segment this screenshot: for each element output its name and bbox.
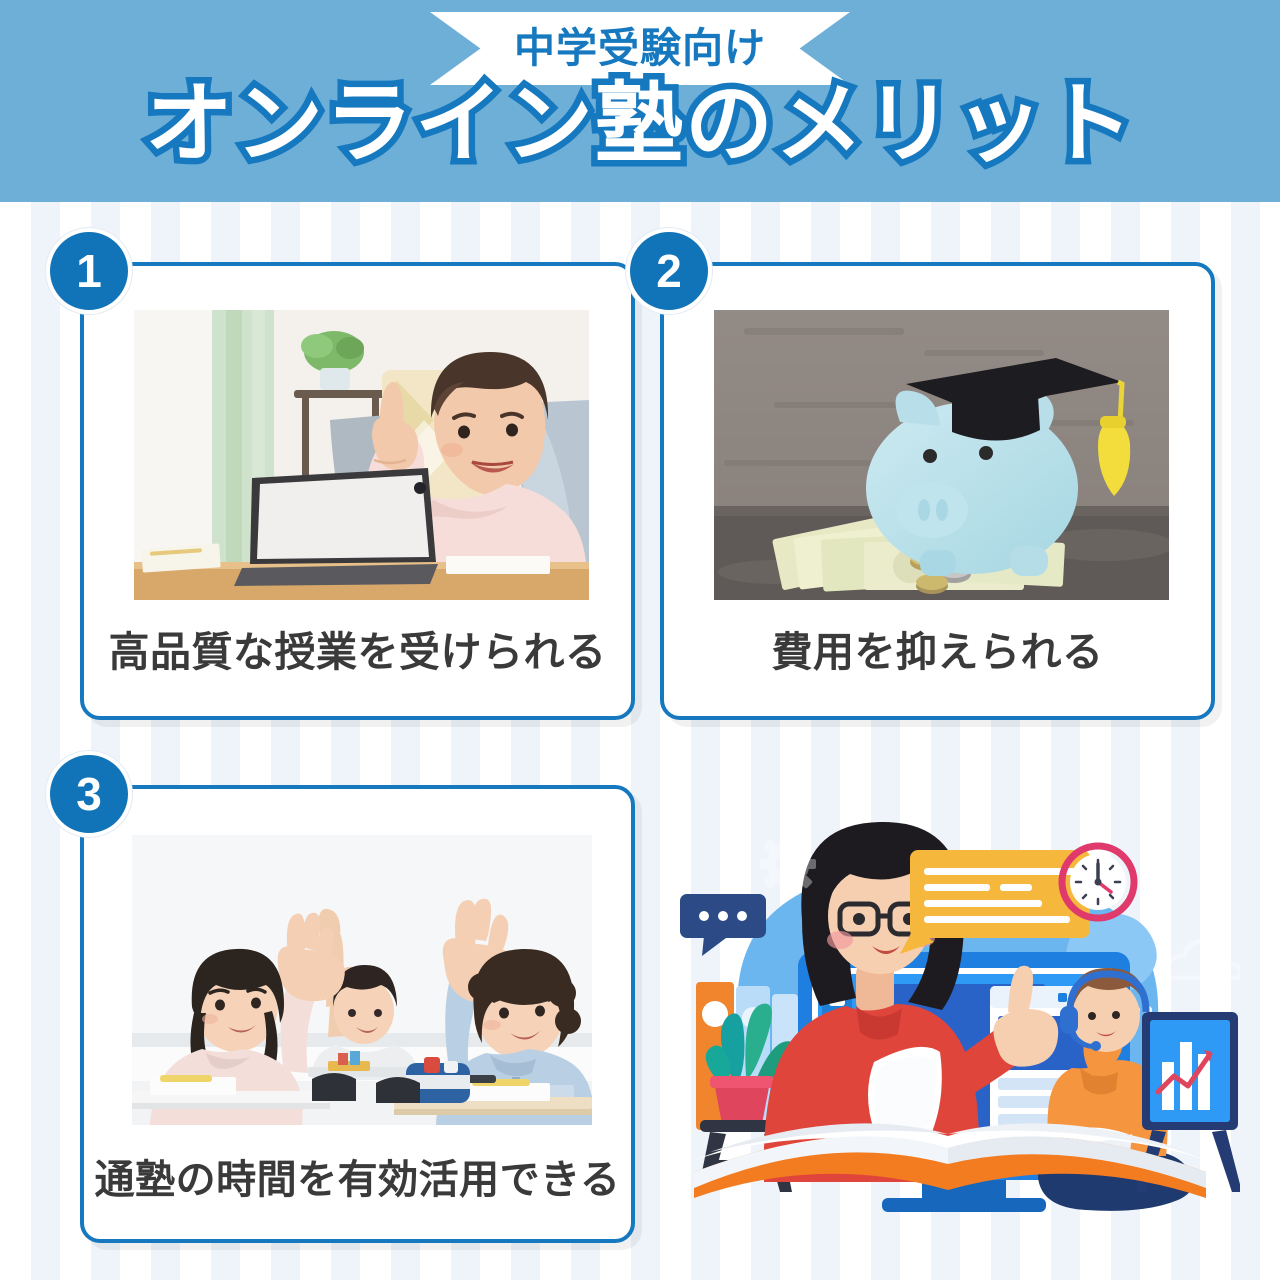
card-caption-3: 通塾の時間を有効活用できる xyxy=(84,1147,631,1205)
card-caption-2: 費用を抑えられる xyxy=(664,618,1211,678)
ribbon-label: 中学受験向け xyxy=(514,28,766,69)
online-class-illustration xyxy=(660,800,1240,1230)
card-number-badge-3: 3 xyxy=(46,751,132,837)
page-title: オンライン塾のメリット xyxy=(0,78,1280,170)
page-header: 中学受験向け オンライン塾のメリット xyxy=(0,0,1280,202)
card-caption-1: 高品質な授業を受けられる xyxy=(84,618,631,678)
benefit-card-3: 3 xyxy=(80,785,635,1243)
card-photo-2 xyxy=(714,310,1169,600)
gear-icon xyxy=(760,836,816,892)
benefit-card-1: 1 xyxy=(80,262,635,720)
card-photo-3 xyxy=(132,835,592,1125)
cloud-icon xyxy=(1162,941,1241,978)
benefit-card-2: 2 xyxy=(660,262,1215,720)
card-photo-1 xyxy=(134,310,589,600)
card-number-badge-1: 1 xyxy=(46,228,132,314)
card-number-badge-2: 2 xyxy=(626,228,712,314)
page-background: 中学受験向け オンライン塾のメリット 1 xyxy=(0,0,1280,1280)
wall-clock xyxy=(1062,846,1134,918)
